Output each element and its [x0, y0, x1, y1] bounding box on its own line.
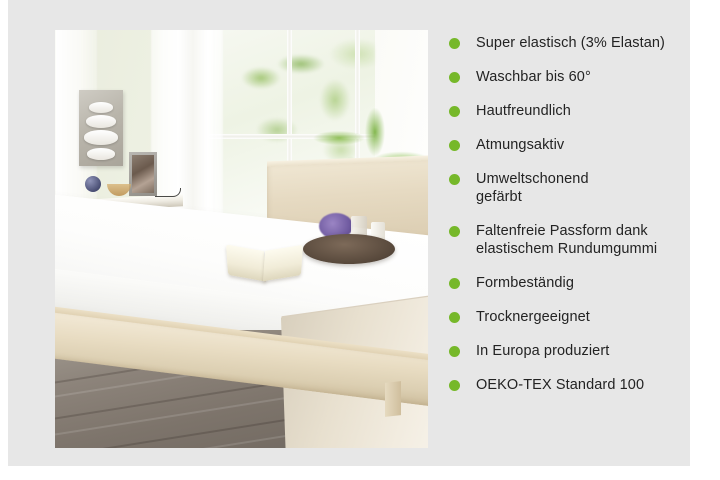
open-book-right-page: [263, 245, 303, 282]
bullet-icon: [449, 72, 460, 83]
bullet-icon: [449, 278, 460, 289]
bullet-icon: [449, 174, 460, 185]
stone-shape: [84, 130, 118, 145]
feature-item: Hautfreundlich: [449, 102, 689, 120]
feature-label: Faltenfreie Passform dank elastischem Ru…: [476, 222, 657, 258]
bullet-icon: [449, 140, 460, 151]
lamp-cable: [155, 188, 181, 197]
stone-shape: [87, 148, 115, 160]
stone-shape: [89, 102, 113, 113]
picture-frame: [129, 152, 157, 196]
feature-label: Atmungsaktiv: [476, 136, 564, 154]
feature-item: OEKO-TEX Standard 100: [449, 376, 689, 394]
feature-label: OEKO-TEX Standard 100: [476, 376, 644, 394]
feature-item: Waschbar bis 60°: [449, 68, 689, 86]
feature-item: Super elastisch (3% Elastan): [449, 34, 689, 52]
feature-label: Formbeständig: [476, 274, 574, 292]
feature-label: Trocknergeeignet: [476, 308, 590, 326]
feature-label: In Europa produziert: [476, 342, 609, 360]
feature-item: Atmungsaktiv: [449, 136, 689, 154]
decorative-sphere: [85, 176, 101, 192]
feature-list: Super elastisch (3% Elastan) Waschbar bi…: [449, 34, 689, 410]
feature-item: Umweltschonend gefärbt: [449, 170, 689, 206]
picture-frame-photo: [132, 155, 154, 193]
stone-shape: [86, 115, 116, 128]
feature-label: Super elastisch (3% Elastan): [476, 34, 665, 52]
serving-tray: [303, 234, 395, 264]
bullet-icon: [449, 380, 460, 391]
feature-item: Trocknergeeignet: [449, 308, 689, 326]
bed-leg: [385, 381, 401, 417]
content-panel: Super elastisch (3% Elastan) Waschbar bi…: [8, 0, 690, 466]
feature-label: Umweltschonend gefärbt: [476, 170, 589, 206]
bullet-icon: [449, 312, 460, 323]
bullet-icon: [449, 38, 460, 49]
feature-item: In Europa produziert: [449, 342, 689, 360]
product-photo: [55, 30, 428, 448]
bullet-icon: [449, 346, 460, 357]
feature-item: Formbeständig: [449, 274, 689, 292]
bullet-icon: [449, 226, 460, 237]
wall-artwork-frame: [79, 90, 123, 166]
feature-label: Hautfreundlich: [476, 102, 571, 120]
product-feature-graphic: Super elastisch (3% Elastan) Waschbar bi…: [0, 0, 720, 480]
feature-item: Faltenfreie Passform dank elastischem Ru…: [449, 222, 689, 258]
bullet-icon: [449, 106, 460, 117]
feature-label: Waschbar bis 60°: [476, 68, 591, 86]
